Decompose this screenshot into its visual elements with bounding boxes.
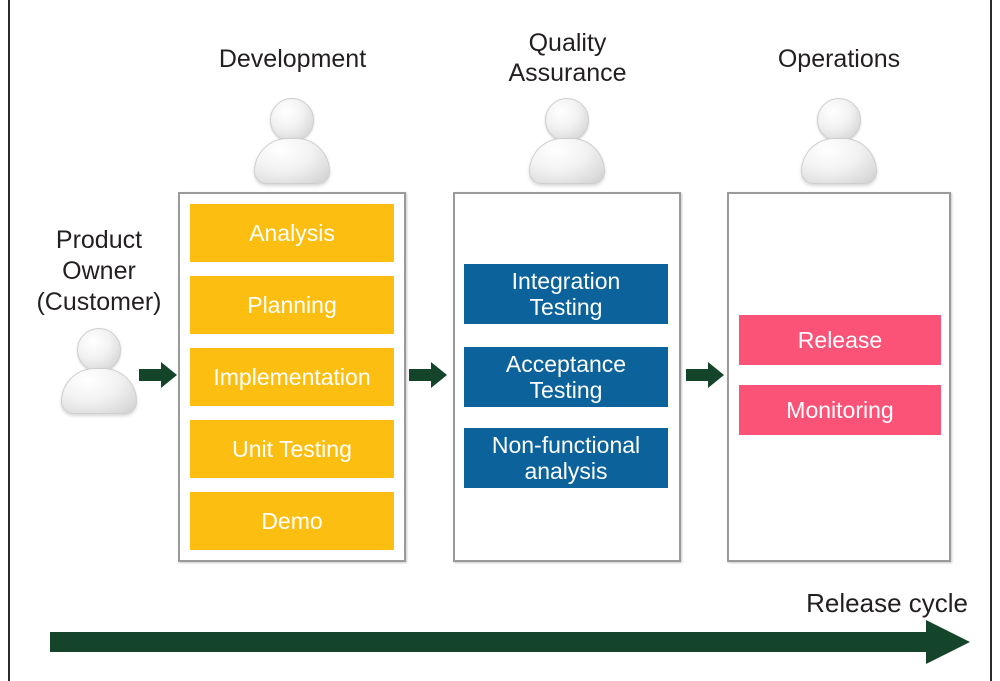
person-head-icon [77, 328, 121, 372]
diagram-canvas: Development Quality Assurance Operations… [0, 0, 1000, 681]
arrow-right-long-icon-release-cycle [50, 620, 970, 669]
chip-operations-monitoring[interactable]: Monitoring [739, 385, 941, 435]
chip-operations-release[interactable]: Release [739, 315, 941, 365]
release-cycle-label: Release cycle [600, 588, 968, 619]
page-rule-right [990, 0, 992, 681]
chip-development-analysis[interactable]: Analysis [190, 204, 394, 262]
column-title-quality-assurance: Quality Assurance [455, 28, 680, 88]
column-title-development: Development [180, 44, 405, 74]
chip-development-unit-testing[interactable]: Unit Testing [190, 420, 394, 478]
person-icon-operations [801, 98, 877, 188]
page-rule-left [8, 0, 10, 681]
person-icon-development [254, 98, 330, 188]
person-body-icon [529, 138, 605, 184]
column-title-operations: Operations [728, 44, 950, 74]
person-body-icon [254, 138, 330, 184]
chip-development-implementation[interactable]: Implementation [190, 348, 394, 406]
person-head-icon [545, 98, 589, 142]
person-head-icon [270, 98, 314, 142]
chip-development-demo[interactable]: Demo [190, 492, 394, 550]
person-body-icon [61, 368, 137, 414]
arrow-right-icon-qa-to-operations [686, 360, 726, 390]
chip-qa-acceptance-testing[interactable]: Acceptance Testing [464, 347, 668, 407]
arrow-right-icon-development-to-qa [409, 360, 449, 390]
person-icon-product-owner [61, 328, 137, 418]
person-body-icon [801, 138, 877, 184]
column-container-operations [727, 192, 951, 562]
chip-qa-non-functional-analysis[interactable]: Non-functional analysis [464, 428, 668, 488]
chip-qa-integration-testing[interactable]: Integration Testing [464, 264, 668, 324]
person-icon-quality-assurance [529, 98, 605, 188]
arrow-right-icon-owner-to-development [139, 360, 179, 390]
person-head-icon [817, 98, 861, 142]
chip-development-planning[interactable]: Planning [190, 276, 394, 334]
product-owner-label: Product Owner (Customer) [20, 225, 178, 318]
